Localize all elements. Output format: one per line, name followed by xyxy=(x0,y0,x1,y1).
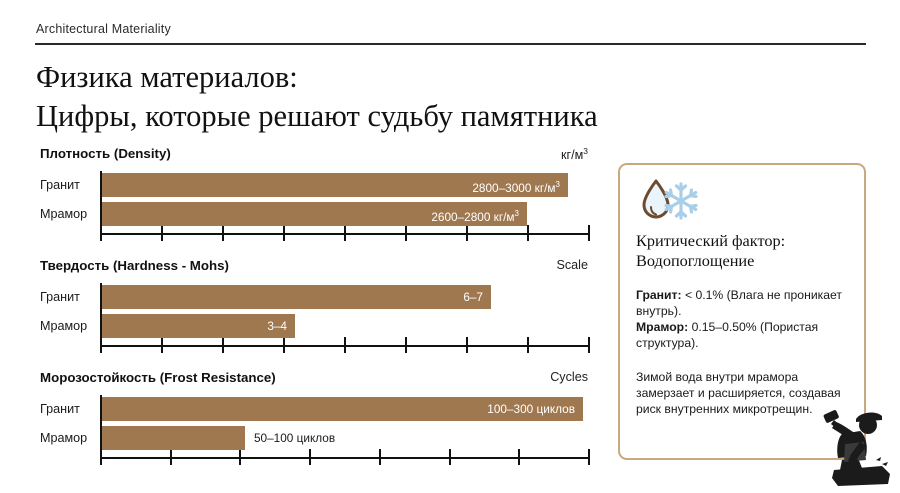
x-axis-tick xyxy=(170,449,172,465)
card-heading: Критический фактор: Водопоглощение xyxy=(636,231,852,272)
bar-value-text: 2600–2800 кг/м xyxy=(431,210,514,224)
card-heading-line-2: Водопоглощение xyxy=(636,251,852,271)
chart-unit-text: Scale xyxy=(556,258,588,272)
x-axis-tick xyxy=(239,449,241,465)
bar-category-label: Мрамор xyxy=(40,319,87,333)
bar-value-label: 100–300 циклов xyxy=(487,397,575,421)
chart-header: Морозостойкость (Frost Resistance)Cycles xyxy=(40,370,588,389)
bar-category-label: Мрамор xyxy=(40,431,87,445)
bar-value-text: 3–4 xyxy=(267,319,287,333)
bar-value-label: 2800–3000 кг/м3 xyxy=(472,173,560,197)
card-absorption-values: Гранит: < 0.1% (Влага не проникает внутр… xyxy=(636,287,852,351)
x-axis-tick xyxy=(100,449,102,465)
chart-title: Морозостойкость (Frost Resistance) xyxy=(40,370,276,385)
chart-section: Твердость (Hardness - Mohs)ScaleГранит6–… xyxy=(0,258,600,359)
x-axis-tick xyxy=(161,225,163,241)
page-title-line-2: Цифры, которые решают судьбу памятника xyxy=(36,97,796,136)
chart-unit-label: Cycles xyxy=(550,370,588,384)
chart-unit-exponent: 3 xyxy=(583,146,588,156)
x-axis-tick xyxy=(527,337,529,353)
x-axis-tick xyxy=(379,449,381,465)
bar xyxy=(102,314,295,338)
chart-unit-label: Scale xyxy=(556,258,588,272)
x-axis-tick xyxy=(283,225,285,241)
bar xyxy=(102,426,245,450)
x-axis-tick xyxy=(527,225,529,241)
x-axis-tick xyxy=(344,337,346,353)
x-axis-tick xyxy=(222,225,224,241)
bar-value-label: 6–7 xyxy=(463,285,483,309)
chart-section: Морозостойкость (Frost Resistance)Cycles… xyxy=(0,370,600,471)
x-axis-tick xyxy=(283,337,285,353)
chart-unit-text: кг/м xyxy=(561,148,583,162)
bar-value-text: 6–7 xyxy=(463,290,483,304)
x-axis-tick xyxy=(309,449,311,465)
x-axis-tick xyxy=(405,337,407,353)
x-axis-tick xyxy=(518,449,520,465)
bar-value-exponent: 3 xyxy=(515,209,519,218)
chart-title: Плотность (Density) xyxy=(40,146,171,161)
x-axis-tick xyxy=(449,449,451,465)
x-axis-tick xyxy=(161,337,163,353)
chart-plot-area: Гранит100–300 цикловМрамор50–100 циклов xyxy=(0,395,600,471)
bar-chart-group: Плотность (Density)кг/м3Гранит2800–3000 … xyxy=(0,146,600,482)
x-axis-tick xyxy=(588,337,590,353)
chart-title: Твердость (Hardness - Mohs) xyxy=(40,258,229,273)
chart-plot-area: Гранит2800–3000 кг/м3Мрамор2600–2800 кг/… xyxy=(0,171,600,247)
bar-category-label: Гранит xyxy=(40,178,80,192)
bar xyxy=(102,285,491,309)
chart-plot-area: Гранит6–7Мрамор3–4 xyxy=(0,283,600,359)
bar-value-label: 2600–2800 кг/м3 xyxy=(431,202,519,226)
bar-category-label: Мрамор xyxy=(40,207,87,221)
x-axis-tick xyxy=(405,225,407,241)
x-axis-tick xyxy=(466,337,468,353)
water-drop-snowflake-icon xyxy=(636,177,700,229)
x-axis-tick xyxy=(588,225,590,241)
chart-section: Плотность (Density)кг/м3Гранит2800–3000 … xyxy=(0,146,600,247)
chart-header: Плотность (Density)кг/м3 xyxy=(40,146,588,165)
bar-value-text: 100–300 циклов xyxy=(487,402,575,416)
granite-label: Гранит: xyxy=(636,288,682,302)
bar-category-label: Гранит xyxy=(40,402,80,416)
bar-category-label: Гранит xyxy=(40,290,80,304)
header-divider xyxy=(35,43,866,45)
x-axis-tick xyxy=(100,337,102,353)
x-axis-tick xyxy=(222,337,224,353)
stonemason-illustration xyxy=(812,404,896,488)
chart-unit-text: Cycles xyxy=(550,370,588,384)
infographic-page: Architectural Materiality Физика материа… xyxy=(0,0,900,488)
x-axis-tick xyxy=(100,225,102,241)
bar-value-exponent: 3 xyxy=(556,180,560,189)
chart-header: Твердость (Hardness - Mohs)Scale xyxy=(40,258,588,277)
bar-value-label: 3–4 xyxy=(267,314,287,338)
x-axis-line xyxy=(100,457,590,459)
card-heading-line-1: Критический фактор: xyxy=(636,231,785,250)
bar-value-label: 50–100 циклов xyxy=(254,426,335,450)
eyebrow-label: Architectural Materiality xyxy=(36,22,171,36)
x-axis-tick xyxy=(344,225,346,241)
page-title-line-1: Физика материалов: xyxy=(36,60,298,94)
chart-unit-label: кг/м3 xyxy=(561,146,588,162)
x-axis-tick xyxy=(588,449,590,465)
bar-value-text: 2800–3000 кг/м xyxy=(472,181,555,195)
page-title: Физика материалов: Цифры, которые решают… xyxy=(36,58,796,137)
bar-value-text: 50–100 циклов xyxy=(254,431,335,445)
marble-label: Мрамор: xyxy=(636,320,688,334)
x-axis-tick xyxy=(466,225,468,241)
